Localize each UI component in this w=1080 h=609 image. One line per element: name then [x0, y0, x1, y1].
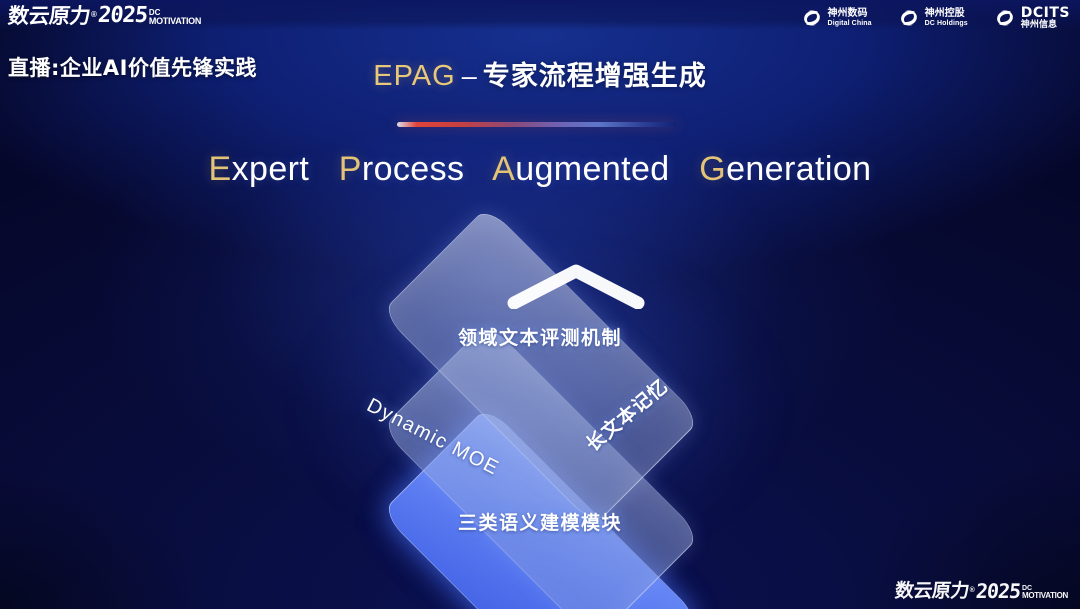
subtitle-cap: A: [492, 150, 515, 188]
title-chinese: 专家流程增强生成: [483, 61, 707, 92]
subtitle-rest: rocess: [362, 150, 465, 188]
subtitle-rest: ugmented: [515, 150, 669, 188]
partner-logo-digital-china: 神州数码 Digital China: [801, 7, 872, 29]
partner-logo-dcits: DCITS 神州信息: [994, 6, 1070, 31]
space: [474, 150, 484, 188]
subtitle-cap: G: [699, 150, 726, 188]
swirl-icon: [898, 7, 920, 29]
space: [679, 150, 689, 188]
brand-year: 2025: [97, 5, 148, 27]
live-banner: 直播:企业AI价值先锋实践: [8, 52, 257, 82]
partner-name-en: Digital China: [828, 20, 872, 28]
layer-bottom-label: 三类语义建模模块: [270, 508, 810, 535]
partner-logo-dc-holdings: 神州控股 DC Holdings: [898, 7, 968, 29]
layer-top-label: 领域文本评测机制: [270, 323, 810, 350]
brand-dc-motivation: DC MOTIVATION: [1022, 585, 1068, 601]
partner-name-cn: 神州控股: [925, 9, 968, 20]
brand-dc-motivation: DC MOTIVATION: [149, 9, 201, 27]
partner-label: 神州控股 DC Holdings: [925, 9, 968, 27]
partner-label: 神州数码 Digital China: [828, 9, 872, 27]
partner-logos: 神州数码 Digital China 神州控股 DC Holdings DCIT…: [801, 6, 1070, 31]
title-acronym: EPAG: [373, 60, 455, 92]
brand-dc-line2: MOTIVATION: [1022, 592, 1068, 600]
title-dash: –: [462, 61, 477, 91]
subtitle-word-expert: Expert: [209, 150, 310, 188]
space: [319, 150, 329, 188]
brand-year: 2025: [975, 581, 1021, 601]
subtitle-rest: eneration: [726, 150, 871, 188]
brand-name-cn: 数云原力: [7, 6, 91, 27]
partner-name-en: 神州信息: [1021, 21, 1070, 31]
partner-name-en: DC Holdings: [925, 20, 968, 28]
slide-canvas: 数云原力 ® 2025 DC MOTIVATION 直播:企业AI价值先锋实践 …: [0, 0, 1080, 609]
page-subtitle: Expert Process Augmented Generation: [0, 150, 1080, 189]
brand-watermark: 数云原力 ® 2025 DC MOTIVATION: [895, 581, 1068, 601]
subtitle-rest: xpert: [232, 150, 310, 188]
swirl-icon: [801, 7, 823, 29]
partner-label: DCITS 神州信息: [1021, 6, 1070, 31]
partner-name-cn: 神州数码: [828, 9, 872, 20]
brand-name-cn: 数云原力: [894, 582, 970, 601]
layered-architecture-diagram: 领域文本评测机制 Dynamic MOE 长文本记忆 三类语义建模模块: [270, 215, 810, 590]
brand-registered-icon: ®: [970, 587, 975, 594]
swirl-icon: [994, 7, 1016, 29]
subtitle-word-process: Process: [339, 150, 465, 188]
title-divider: [397, 122, 677, 127]
subtitle-word-augmented: Augmented: [492, 150, 670, 188]
subtitle-cap: E: [209, 150, 232, 188]
chevron-up-icon: [506, 263, 646, 309]
brand-dc-line2: MOTIVATION: [149, 17, 201, 26]
brand-registered-icon: ®: [91, 11, 97, 19]
subtitle-word-generation: Generation: [699, 150, 871, 188]
brand-logo: 数云原力 ® 2025 DC MOTIVATION: [8, 5, 201, 27]
partner-name-cn: DCITS: [1021, 6, 1070, 21]
subtitle-cap: P: [339, 150, 362, 188]
